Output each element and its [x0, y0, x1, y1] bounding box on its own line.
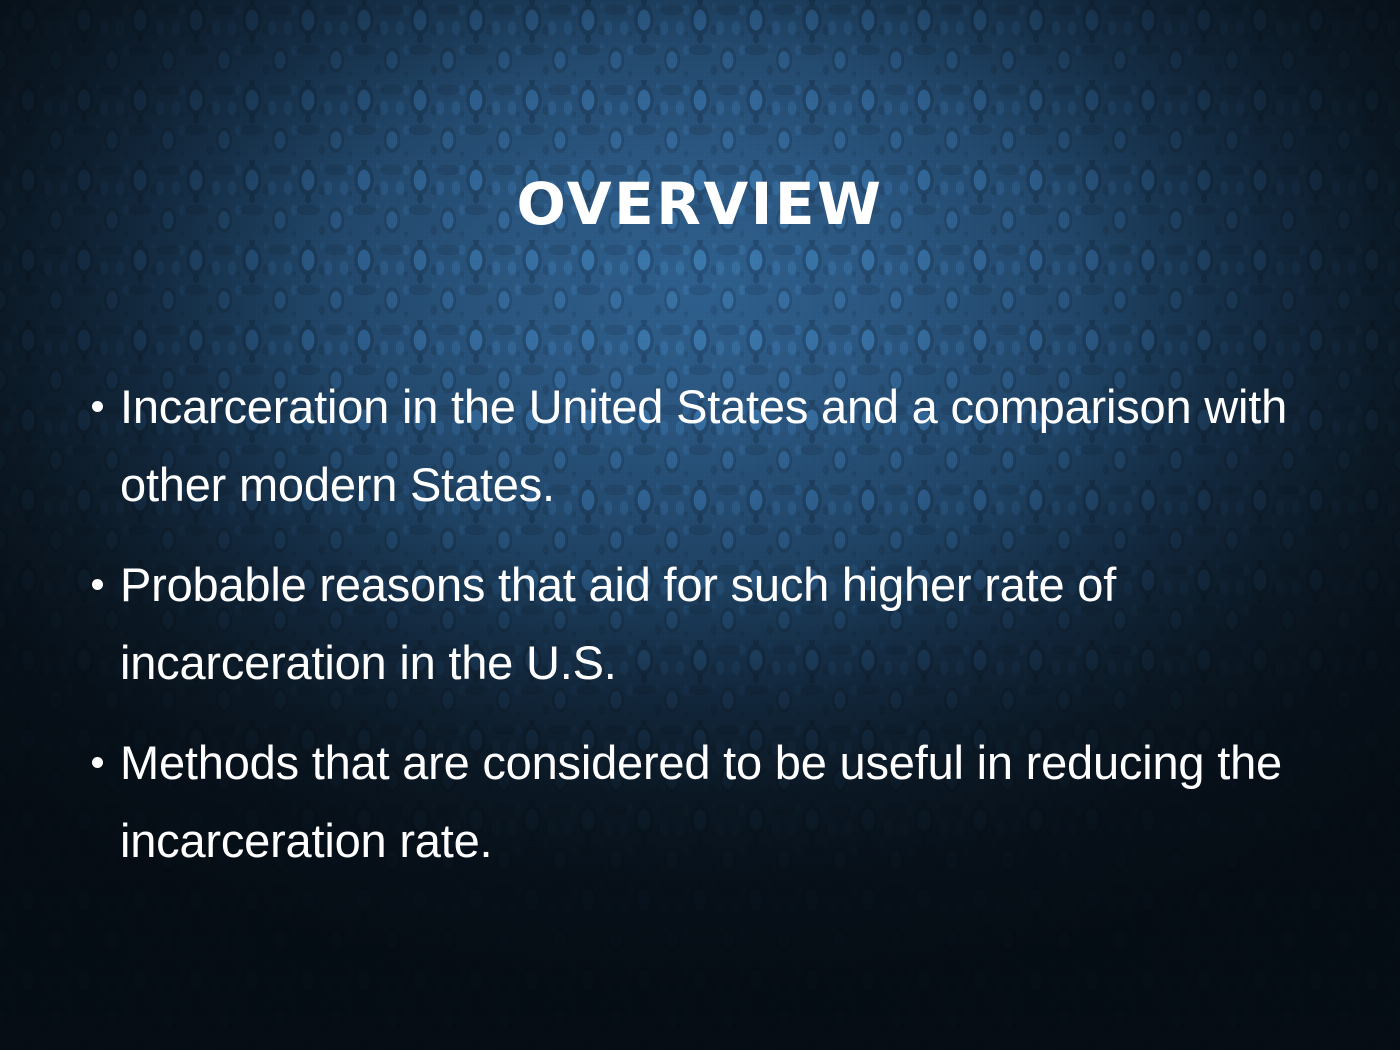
presentation-slide: OVERVIEW Incarceration in the United Sta… [0, 0, 1400, 1050]
bullet-list-item: Incarceration in the United States and a… [80, 368, 1330, 524]
bullet-list-item: Methods that are considered to be useful… [80, 724, 1330, 880]
bullet-item-text: Methods that are considered to be useful… [120, 724, 1330, 880]
bullet-item-text: Incarceration in the United States and a… [120, 368, 1330, 524]
bullet-dot-icon [92, 757, 103, 768]
bullet-item-text: Probable reasons that aid for such highe… [120, 546, 1330, 702]
slide-content: OVERVIEW Incarceration in the United Sta… [0, 0, 1400, 1050]
slide-title: OVERVIEW [0, 175, 1400, 233]
bullet-dot-icon [92, 579, 103, 590]
bullet-list: Incarceration in the United States and a… [80, 368, 1330, 880]
bullet-dot-icon [92, 401, 103, 412]
bullet-list-item: Probable reasons that aid for such highe… [80, 546, 1330, 702]
